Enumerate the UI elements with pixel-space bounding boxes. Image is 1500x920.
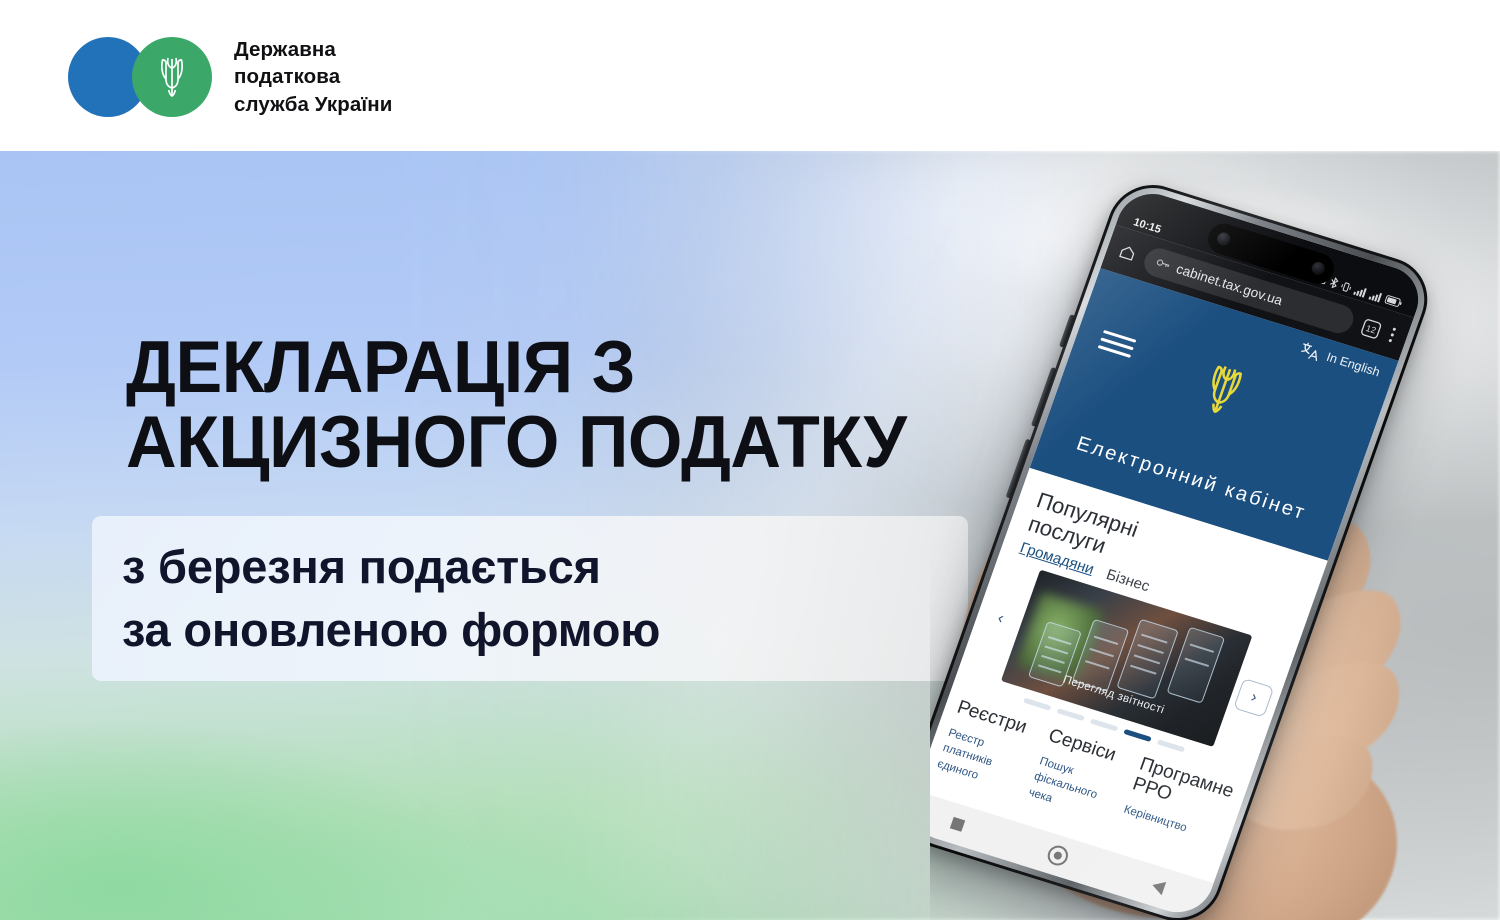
hamburger-icon[interactable] (1098, 330, 1137, 358)
hand-holding-phone-photo: 10:15 (930, 151, 1500, 920)
signal-icon (1353, 285, 1368, 298)
in-english-link[interactable]: In English (1325, 349, 1382, 379)
chevron-right-icon[interactable]: › (1233, 678, 1274, 718)
face-id-sensor (1310, 260, 1327, 276)
vibrate-icon (1340, 280, 1353, 292)
banner-subtitle: з березня подається за оновленою формою (122, 536, 968, 661)
column-software-rro: Програмне РРО Керівництво (1117, 755, 1236, 857)
page-info-icon (1155, 257, 1172, 271)
organization-name: Державна податкова служба України (234, 36, 392, 118)
tab-counter-icon[interactable]: 12 (1359, 317, 1383, 341)
banner-headline: ДЕКЛАРАЦІЯ З АКЦИЗНОГО ПОДАТКУ (126, 330, 907, 480)
banner-stage: Державна податкова служба України ДЕКЛАР… (0, 0, 1500, 920)
signal-2-icon (1369, 289, 1384, 302)
banner-subtitle-plate: з березня подається за оновленою формою (92, 516, 968, 681)
chevron-left-icon[interactable]: ‹ (981, 601, 1020, 638)
column-services: Сервіси Пошук фіскального чека (1026, 726, 1138, 826)
column-registries: Реєстри Реєстр платників єдиного (935, 698, 1047, 798)
circle-home-icon[interactable] (1045, 843, 1071, 868)
more-vertical-icon[interactable] (1387, 326, 1398, 344)
front-camera-lens (1215, 231, 1232, 247)
translate-icon (1299, 340, 1325, 362)
square-recents-icon[interactable] (949, 817, 964, 832)
logo-green-circle (132, 37, 212, 117)
svg-text:12: 12 (1365, 323, 1378, 335)
home-icon[interactable] (1117, 242, 1139, 263)
triangle-back-icon[interactable] (1150, 879, 1166, 896)
site-header-bar: Державна податкова служба України (0, 0, 1500, 151)
ukraine-trident-icon (1192, 357, 1253, 423)
ukraine-trident-icon (155, 54, 189, 100)
organization-logo: Державна податкова служба України (68, 36, 392, 118)
battery-icon (1384, 295, 1403, 309)
